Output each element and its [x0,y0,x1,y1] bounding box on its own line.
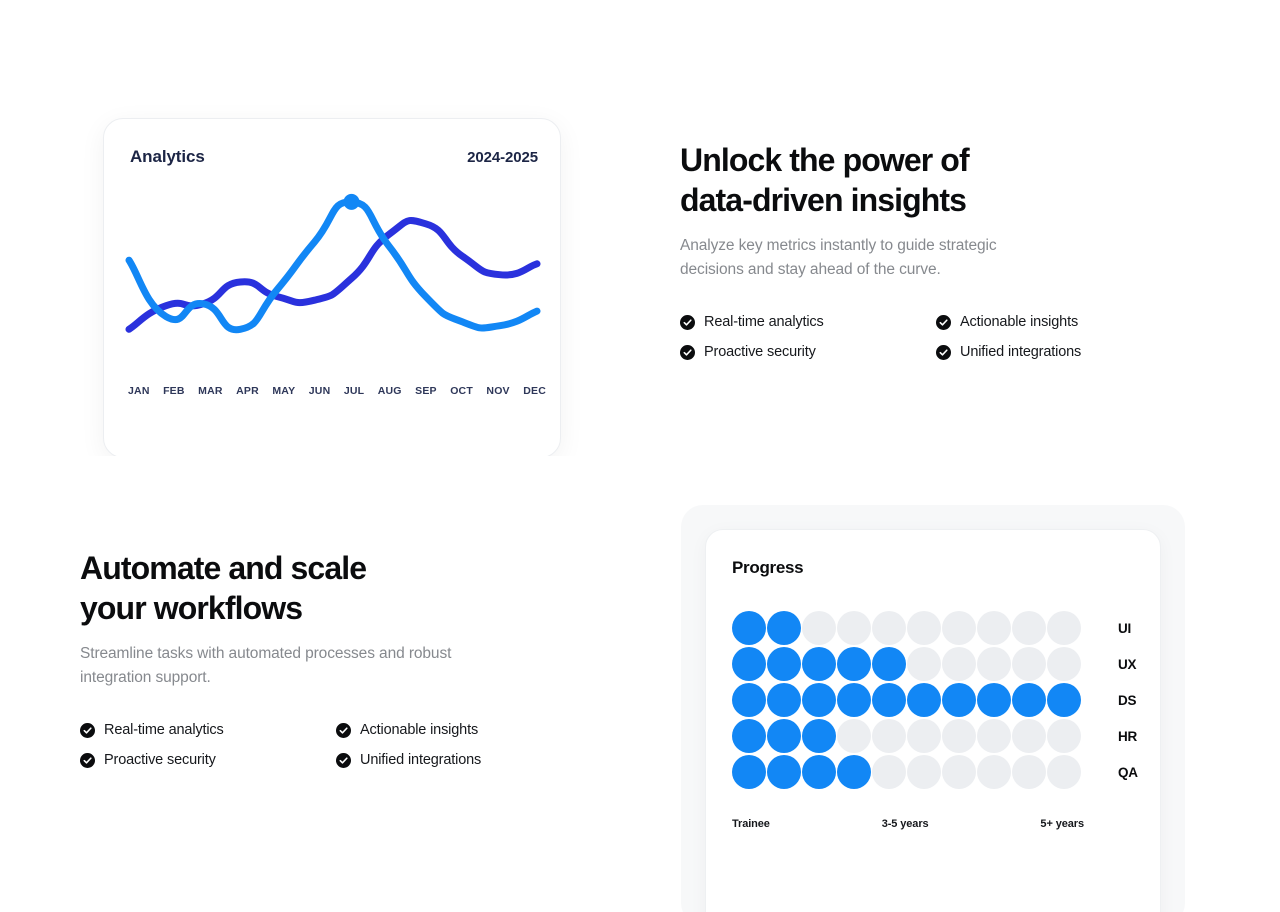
progress-dot-filled [767,647,801,681]
feature-label: Unified integrations [360,752,481,768]
landing-page: Analytics 2024-2025 JAN FEB MAR APR MAY … [0,0,1280,912]
analytics-card-header: Analytics 2024-2025 [130,147,538,167]
progress-row-label: HR [1118,729,1164,744]
progress-dot-matrix: UIUXDSHRQA [732,610,1164,790]
chart-peak-marker [344,194,360,210]
progress-dot-empty [977,611,1011,645]
progress-dot-empty [977,647,1011,681]
progress-dot-empty [907,611,941,645]
progress-row: DS [732,682,1164,718]
progress-dot-filled [802,755,836,789]
progress-row-label: DS [1118,693,1164,708]
feature-label: Actionable insights [960,314,1078,330]
progress-dot-filled [802,719,836,753]
progress-card: Progress UIUXDSHRQA Trainee 3-5 years 5+… [705,529,1161,912]
progress-card-title: Progress [732,558,803,578]
x-tick: MAY [272,385,295,397]
x-tick: NOV [486,385,509,397]
x-tick: JUN [309,385,331,397]
progress-dot-empty [907,755,941,789]
progress-dot-filled [1047,683,1081,717]
progress-dot-empty [942,647,976,681]
progress-dot-empty [872,719,906,753]
top-feature-list: Real‑time analytics Actionable insights … [680,314,1120,360]
progress-dot-filled [1012,683,1046,717]
feature-item: Proactive security [680,344,936,360]
feature-item: Unified integrations [336,752,520,768]
feature-item: Actionable insights [336,722,520,738]
check-circle-icon [336,723,351,738]
progress-dot-filled [732,683,766,717]
progress-dot-filled [907,683,941,717]
x-tick: JAN [128,385,150,397]
x-tick: FEB [163,385,185,397]
progress-dot-filled [732,755,766,789]
progress-dot-empty [942,719,976,753]
progress-dot-empty [907,647,941,681]
progress-dot-empty [872,755,906,789]
progress-dot-filled [802,683,836,717]
top-copy-block: Unlock the power of data‑driven insights… [680,140,1120,360]
feature-item: Unified integrations [936,344,1120,360]
progress-dot-empty [942,755,976,789]
check-circle-icon [680,345,695,360]
progress-dot-empty [1012,611,1046,645]
check-circle-icon [936,315,951,330]
progress-row: QA [732,754,1164,790]
progress-panel: Progress UIUXDSHRQA Trainee 3-5 years 5+… [681,505,1185,912]
chart-x-axis-labels: JAN FEB MAR APR MAY JUN JUL AUG SEP OCT … [128,385,546,397]
progress-dot-filled [767,755,801,789]
x-tick: MAR [198,385,223,397]
progress-dot-filled [732,647,766,681]
feature-item: Proactive security [80,752,336,768]
progress-dot-filled [732,611,766,645]
progress-dot-empty [837,719,871,753]
check-circle-icon [680,315,695,330]
progress-dot-filled [767,611,801,645]
progress-dot-empty [1047,755,1081,789]
progress-dot-empty [977,719,1011,753]
feature-label: Proactive security [104,752,216,768]
analytics-line-chart [104,177,562,397]
progress-dot-empty [1047,647,1081,681]
x-tick: OCT [450,385,473,397]
headline-line-1: Automate and scale [80,550,366,586]
progress-dot-filled [977,683,1011,717]
x-tick: JUL [344,385,364,397]
scale-label: 3-5 years [882,818,929,830]
feature-label: Unified integrations [960,344,1081,360]
progress-dot-filled [802,647,836,681]
scale-label: 5+ years [1040,818,1084,830]
automation-section: Automate and scale your workflows Stream… [0,456,1280,912]
progress-dot-filled [837,755,871,789]
progress-dot-empty [977,755,1011,789]
progress-dot-filled [767,683,801,717]
feature-item: Actionable insights [936,314,1120,330]
feature-item: Real‑time analytics [80,722,336,738]
progress-dot-filled [732,719,766,753]
x-tick: DEC [523,385,546,397]
x-tick: AUG [378,385,402,397]
progress-dot-empty [942,611,976,645]
analytics-card-title: Analytics [130,147,205,167]
progress-row: HR [732,718,1164,754]
progress-dot-empty [1012,647,1046,681]
feature-label: Proactive security [704,344,816,360]
bottom-subcopy: Streamline tasks with automated processe… [80,642,455,690]
progress-dot-empty [802,611,836,645]
feature-label: Real‑time analytics [104,722,224,738]
feature-label: Actionable insights [360,722,478,738]
progress-scale-labels: Trainee 3-5 years 5+ years [732,818,1084,830]
progress-row: UX [732,646,1164,682]
check-circle-icon [336,753,351,768]
x-tick: APR [236,385,259,397]
progress-dot-filled [767,719,801,753]
progress-dot-empty [1047,719,1081,753]
progress-dot-filled [942,683,976,717]
chart-line-deep-blue [129,220,537,329]
progress-row: UI [732,610,1164,646]
analytics-card: Analytics 2024-2025 JAN FEB MAR APR MAY … [103,118,561,456]
progress-dot-filled [837,647,871,681]
progress-dot-empty [837,611,871,645]
headline-line-2: data‑driven insights [680,182,966,218]
scale-label: Trainee [732,818,770,830]
top-subcopy: Analyze key metrics instantly to guide s… [680,234,1055,282]
progress-dot-empty [1012,755,1046,789]
analytics-section: Analytics 2024-2025 JAN FEB MAR APR MAY … [0,0,1280,456]
progress-dot-empty [872,611,906,645]
progress-row-label: UI [1118,621,1164,636]
bottom-copy-block: Automate and scale your workflows Stream… [80,548,520,768]
analytics-card-period: 2024-2025 [467,149,538,166]
progress-row-label: QA [1118,765,1164,780]
progress-dot-empty [1012,719,1046,753]
progress-dot-filled [872,683,906,717]
headline-line-2: your workflows [80,590,302,626]
progress-dot-filled [872,647,906,681]
x-tick: SEP [415,385,437,397]
check-circle-icon [80,723,95,738]
feature-item: Real‑time analytics [680,314,936,330]
bottom-feature-list: Real‑time analytics Actionable insights … [80,722,520,768]
progress-dot-empty [907,719,941,753]
check-circle-icon [936,345,951,360]
progress-dot-empty [1047,611,1081,645]
progress-row-label: UX [1118,657,1164,672]
check-circle-icon [80,753,95,768]
headline-line-1: Unlock the power of [680,142,969,178]
section-title: Automate and scale your workflows [80,548,520,628]
page-title: Unlock the power of data‑driven insights [680,140,1120,220]
progress-dot-filled [837,683,871,717]
feature-label: Real‑time analytics [704,314,824,330]
